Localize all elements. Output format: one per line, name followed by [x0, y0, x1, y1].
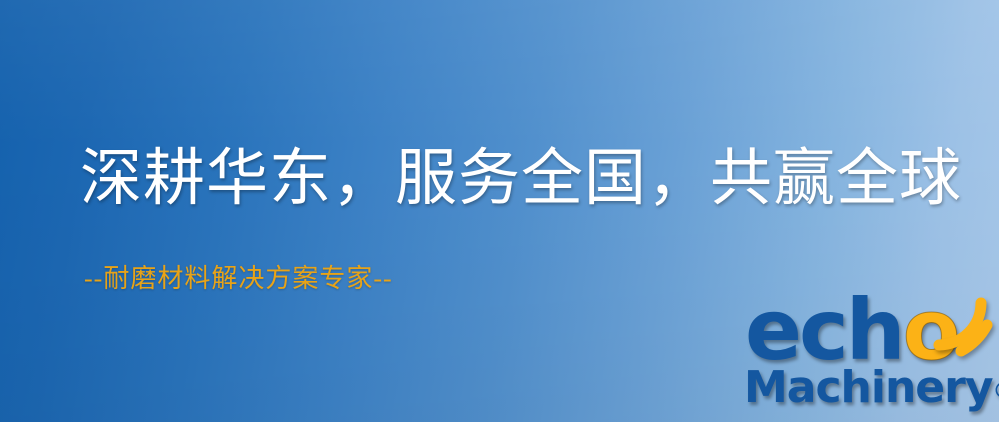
banner-headline: 深耕华东，服务全国，共赢全球 [80, 148, 962, 210]
banner-subtitle: --耐磨材料解决方案专家-- [84, 266, 393, 292]
logo-tagline-text: Machinery [744, 362, 993, 413]
hero-banner: 深耕华东，服务全国，共赢全球 --耐磨材料解决方案专家-- echo Machi… [0, 0, 999, 422]
company-logo[interactable]: echo Machinery® [740, 288, 999, 422]
echo-wave-icon [923, 287, 999, 357]
logo-tagline-machinery: Machinery® [744, 364, 999, 416]
registered-trademark-icon: ® [993, 379, 999, 404]
